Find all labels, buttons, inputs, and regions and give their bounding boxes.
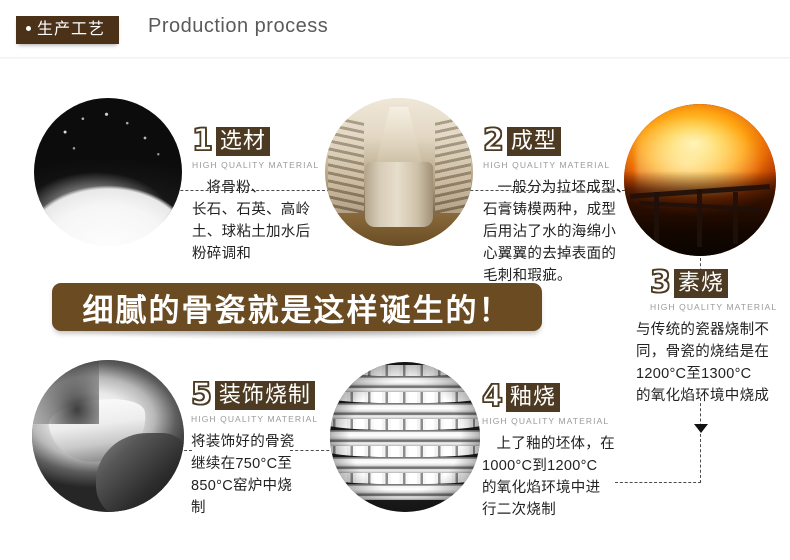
page-header: 生产工艺 Production process — [0, 0, 790, 56]
step-5-subtitle: HIGH QUALITY MATERIAL — [191, 414, 331, 424]
kiln-beam — [733, 192, 738, 244]
step-4-description: 上了釉的坯体，在 1000°C到1200°C 的氧化焰环境中进 行二次烧制 — [482, 433, 622, 521]
step-2-label: 成型 — [507, 127, 561, 156]
step-3-line: 的氧化焰环境中烧成 — [636, 385, 786, 407]
step-4-line: 的氧化焰环境中进 — [482, 477, 622, 499]
step-3-description: 与传统的瓷器烧制不 同，骨瓷的烧结是在 1200°C至1300°C 的氧化焰环境… — [636, 319, 786, 407]
step-1: 1 选材 HIGH QUALITY MATERIAL 将骨粉、 长石、石英、高岭… — [192, 126, 317, 265]
step-5-line: 继续在750°C至 — [191, 453, 331, 475]
arrow-down-icon — [694, 424, 708, 433]
highlight-banner: 细腻的骨瓷就是这样诞生的！ — [52, 283, 542, 331]
highlight-banner-text: 细腻的骨瓷就是这样诞生的！ — [83, 285, 512, 330]
step-4-line: 上了釉的坯体，在 — [482, 433, 622, 455]
step-2-line: 后用沾了水的海绵小 — [483, 221, 628, 243]
step-4-number: 4 — [482, 382, 503, 412]
photo-step-1 — [34, 98, 182, 246]
step-1-line: 将骨粉、 — [192, 177, 317, 199]
step-1-heading: 1 选材 — [192, 126, 317, 156]
step-1-line: 粉碎调和 — [192, 243, 317, 265]
kiln-beam — [697, 189, 702, 247]
photo-step-3 — [624, 104, 776, 256]
step-3-line: 与传统的瓷器烧制不 — [636, 319, 786, 341]
step-5-line: 将装饰好的骨瓷 — [191, 431, 331, 453]
step-3-line: 同，骨瓷的烧结是在 — [636, 341, 786, 363]
banner-shadow — [70, 331, 524, 340]
step-2-number: 2 — [483, 126, 504, 156]
step-3-line: 1200°C至1300°C — [636, 363, 786, 385]
photo-step-4 — [330, 362, 480, 512]
step-4-heading: 4 釉烧 — [482, 382, 622, 412]
rack-vignette — [330, 362, 480, 512]
step-5-line: 制 — [191, 497, 331, 519]
step-1-line: 土、球粘土加水后 — [192, 221, 317, 243]
step-5-line: 850°C窑炉中烧 — [191, 475, 331, 497]
step-2-line: 心翼翼的去掉表面的 — [483, 243, 628, 265]
step-2-heading: 2 成型 — [483, 126, 628, 156]
step-4-subtitle: HIGH QUALITY MATERIAL — [482, 416, 622, 426]
header-divider — [0, 57, 790, 59]
step-5-description: 将装饰好的骨瓷 继续在750°C至 850°C窑炉中烧 制 — [191, 431, 331, 519]
shadow-overlay — [32, 360, 99, 424]
pottery-kiln-tunnel-image — [325, 98, 473, 246]
step-3: 3 素烧 HIGH QUALITY MATERIAL 与传统的瓷器烧制不 同，骨… — [636, 268, 786, 407]
page-title-english: Production process — [148, 15, 328, 38]
step-1-number: 1 — [192, 126, 213, 156]
photo-step-2 — [325, 98, 473, 246]
connector-line-4-inflow — [615, 482, 701, 483]
section-badge-label: 生产工艺 — [37, 21, 105, 38]
photo-step-5 — [32, 360, 184, 512]
step-5-number: 5 — [191, 380, 212, 410]
step-3-label: 素烧 — [674, 269, 728, 298]
step-2-description: 一般分为拉坯成型、 石膏铸模两种，成型 后用沾了水的海绵小 心翼翼的去掉表面的 … — [483, 177, 628, 287]
step-3-number: 3 — [650, 268, 671, 298]
kiln-beam — [654, 192, 659, 244]
step-1-label: 选材 — [216, 127, 270, 156]
step-4-line: 行二次烧制 — [482, 499, 622, 521]
step-5-heading: 5 装饰烧制 — [191, 380, 331, 410]
step-1-description: 将骨粉、 长石、石英、高岭 土、球粘土加水后 粉碎调和 — [192, 177, 317, 265]
step-1-subtitle: HIGH QUALITY MATERIAL — [192, 160, 317, 170]
step-2-line: 石膏铸模两种，成型 — [483, 199, 628, 221]
hands-decorating-cup-image — [32, 360, 184, 512]
clay-vase — [365, 162, 433, 227]
step-5-label: 装饰烧制 — [215, 381, 315, 410]
kiln-fire-image — [624, 104, 776, 256]
step-3-heading: 3 素烧 — [636, 268, 786, 298]
section-badge: 生产工艺 — [16, 16, 119, 44]
bullet-dot-icon — [26, 26, 31, 31]
step-5: 5 装饰烧制 HIGH QUALITY MATERIAL 将装饰好的骨瓷 继续在… — [191, 380, 331, 519]
white-clay-powder-image — [34, 98, 182, 246]
step-4-label: 釉烧 — [506, 383, 560, 412]
step-1-line: 长石、石英、高岭 — [192, 199, 317, 221]
step-2: 2 成型 HIGH QUALITY MATERIAL 一般分为拉坯成型、 石膏铸… — [483, 126, 628, 287]
step-2-subtitle: HIGH QUALITY MATERIAL — [483, 160, 628, 170]
step-4: 4 釉烧 HIGH QUALITY MATERIAL 上了釉的坯体，在 1000… — [482, 382, 622, 521]
stacked-bowls-rack-image — [330, 362, 480, 512]
production-process-infographic: 生产工艺 Production process — [0, 0, 790, 560]
step-3-subtitle: HIGH QUALITY MATERIAL — [636, 302, 786, 312]
connector-line-3-to-4 — [700, 398, 701, 483]
step-2-line: 一般分为拉坯成型、 — [483, 177, 628, 199]
step-4-line: 1000°C到1200°C — [482, 455, 622, 477]
